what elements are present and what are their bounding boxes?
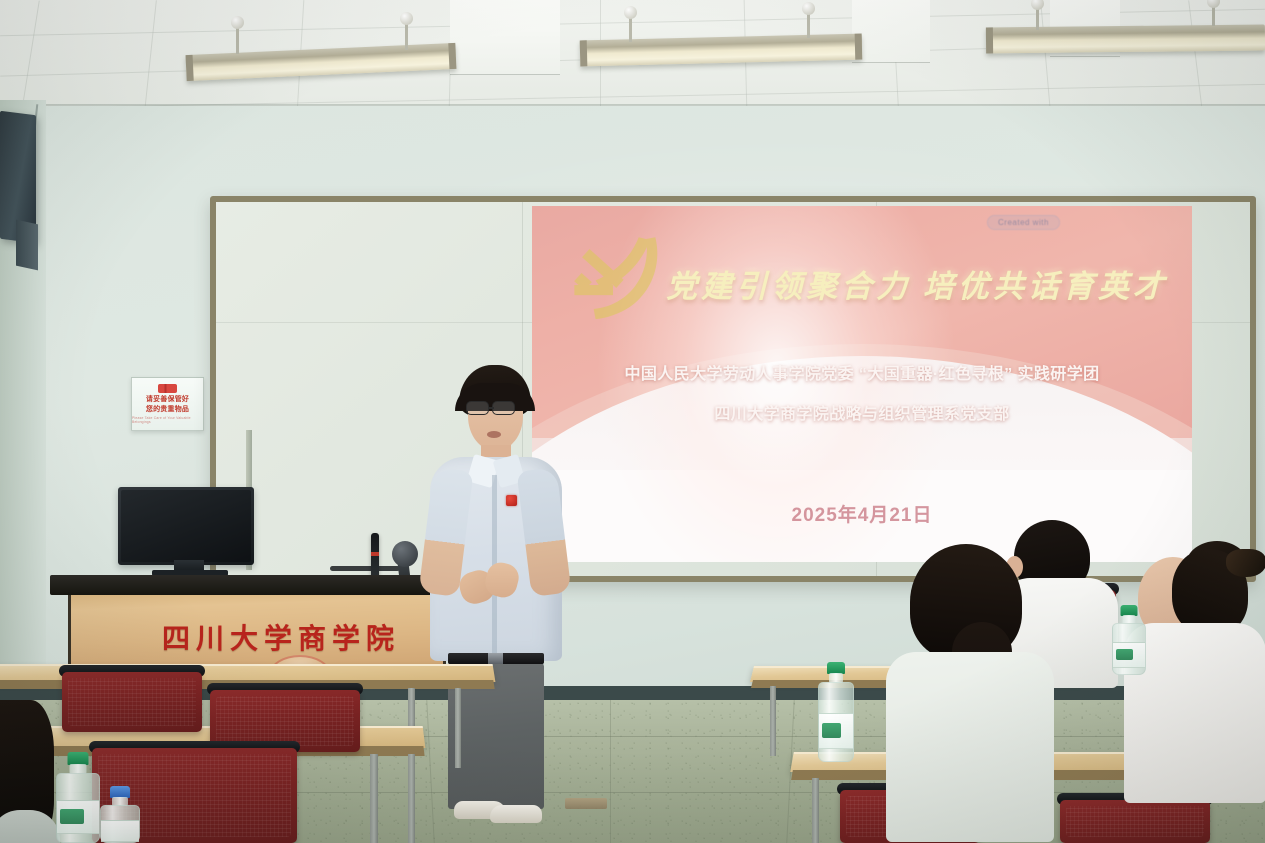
classroom-chair[interactable] <box>62 672 202 732</box>
belt-buckle <box>488 653 503 664</box>
eyeglasses-bridge <box>489 407 494 409</box>
party-emblem-pin <box>506 495 517 506</box>
lectern-institution-label: 四川大学商学院 <box>131 617 431 657</box>
presenter-shoe-right <box>490 805 542 823</box>
monitor-screen[interactable] <box>121 490 251 562</box>
bottle-label <box>101 820 139 842</box>
handheld-microphone[interactable] <box>392 541 418 567</box>
speaker-bracket <box>16 220 38 271</box>
water-bottle[interactable] <box>1112 605 1146 675</box>
bottle-label <box>57 800 99 834</box>
water-bottle[interactable] <box>100 786 140 843</box>
slide-subtitle-line-2: 四川大学商学院战略与组织管理系党支部 <box>532 400 1192 424</box>
water-bottle[interactable] <box>56 752 100 843</box>
ceiling-panel <box>450 0 560 74</box>
light-hanger-cap <box>231 16 244 29</box>
classroom-photo: 请妥善保管好 您的贵重物品 Please Take Care of Your V… <box>0 0 1265 843</box>
bottle-label <box>1113 642 1145 668</box>
bottle-label <box>819 713 853 749</box>
valuables-notice-sign: 请妥善保管好 您的贵重物品 Please Take Care of Your V… <box>131 377 204 431</box>
audience-member-ponytail-right <box>1130 545 1265 805</box>
bottle-body <box>1112 623 1146 675</box>
presenter <box>424 365 564 820</box>
hammer-and-sickle-emblem <box>564 228 662 320</box>
desk-leg <box>455 688 461 768</box>
desktop-monitor <box>118 487 254 565</box>
light-hanger-cap <box>802 2 815 15</box>
bottle-body <box>818 682 854 762</box>
lectern-front-panel: 四川大学商学院 <box>68 593 446 675</box>
wireless-microphone[interactable] <box>371 533 379 581</box>
chair-backrest <box>1060 800 1210 843</box>
eyeglasses-right-lens <box>492 401 515 415</box>
bottle-label-graphic <box>822 723 841 739</box>
light-hanger-cap <box>624 6 637 19</box>
sign-line-2: 您的贵重物品 <box>146 406 189 415</box>
presenter-mouth <box>487 431 501 438</box>
ceiling-light-fixture <box>986 25 1265 54</box>
wallet-icon <box>158 384 177 393</box>
projected-slide: Created with 党建引领聚合力 培优共话育英才 中国人民大学劳动人事学… <box>532 206 1192 562</box>
desk-leg <box>770 686 776 756</box>
ceiling-panel <box>852 0 930 62</box>
slide-headline: 党建引领聚合力 培优共话育英才 <box>652 261 1182 306</box>
classroom-chair[interactable] <box>1060 800 1210 843</box>
light-hanger-cap <box>400 12 413 25</box>
desk-leg <box>812 778 819 843</box>
desk-leg <box>370 754 378 843</box>
student-torso <box>886 652 1054 842</box>
microphone-cable <box>330 566 400 571</box>
bottle-body <box>56 773 100 843</box>
slide-subtitle-line-1: 中国人民大学劳动人事学院党委 “大国重器·红色寻根” 实践研学团 <box>532 360 1192 384</box>
ceiling <box>0 0 1265 112</box>
microphone-indicator-light <box>371 552 379 556</box>
sign-line-1: 请妥善保管好 <box>146 396 189 405</box>
desk-leg <box>408 754 415 843</box>
chair-backrest <box>62 672 202 732</box>
bottle-label-graphic <box>60 809 84 824</box>
bottle-label-graphic <box>1116 649 1134 660</box>
audience-member-ponytail-center <box>890 548 1050 843</box>
water-bottle[interactable] <box>818 662 854 762</box>
bottle-body <box>100 805 140 843</box>
lectern-top-surface <box>50 575 462 595</box>
floor-power-outlet <box>565 798 607 809</box>
eyeglasses-left-lens <box>466 401 489 415</box>
slide-watermark: Created with <box>987 215 1060 230</box>
student-ponytail <box>1226 549 1265 577</box>
sign-english-text: Please Take Care of Your Valuable Belong… <box>132 416 203 424</box>
